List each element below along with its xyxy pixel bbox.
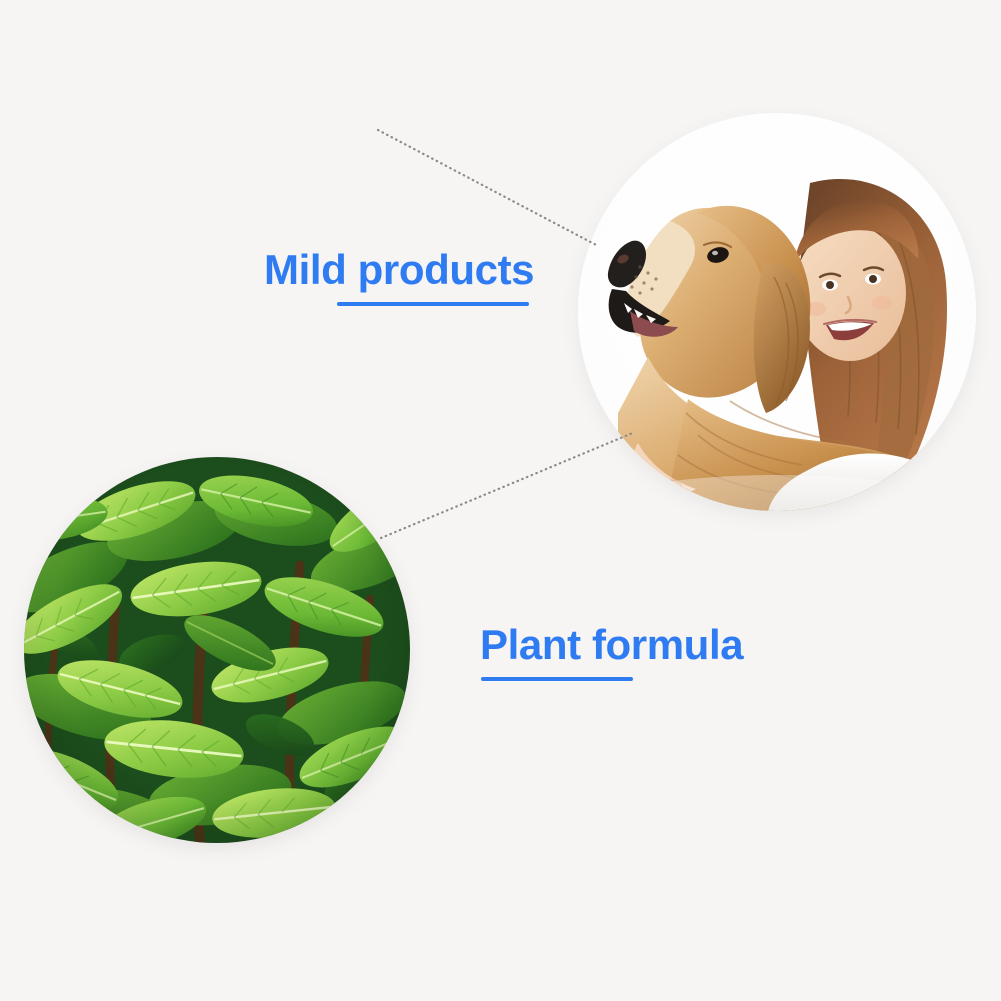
caption-plant-formula-label: Plant formula xyxy=(480,624,743,666)
mint-plant-illustration xyxy=(24,457,410,843)
infographic-canvas: Mild products Plant formula xyxy=(0,0,1001,1001)
caption-plant-formula-underline xyxy=(481,677,633,681)
connector-mild-products xyxy=(370,118,606,254)
caption-mild-products-underline xyxy=(337,302,529,306)
pet-photo-bubble xyxy=(578,113,976,511)
girl-and-dog-illustration xyxy=(578,113,976,511)
caption-mild-products-label: Mild products xyxy=(264,249,534,291)
caption-plant-formula: Plant formula xyxy=(480,624,743,681)
connector-plant-formula xyxy=(372,422,644,550)
caption-mild-products: Mild products xyxy=(264,249,534,306)
plant-photo-bubble xyxy=(24,457,410,843)
